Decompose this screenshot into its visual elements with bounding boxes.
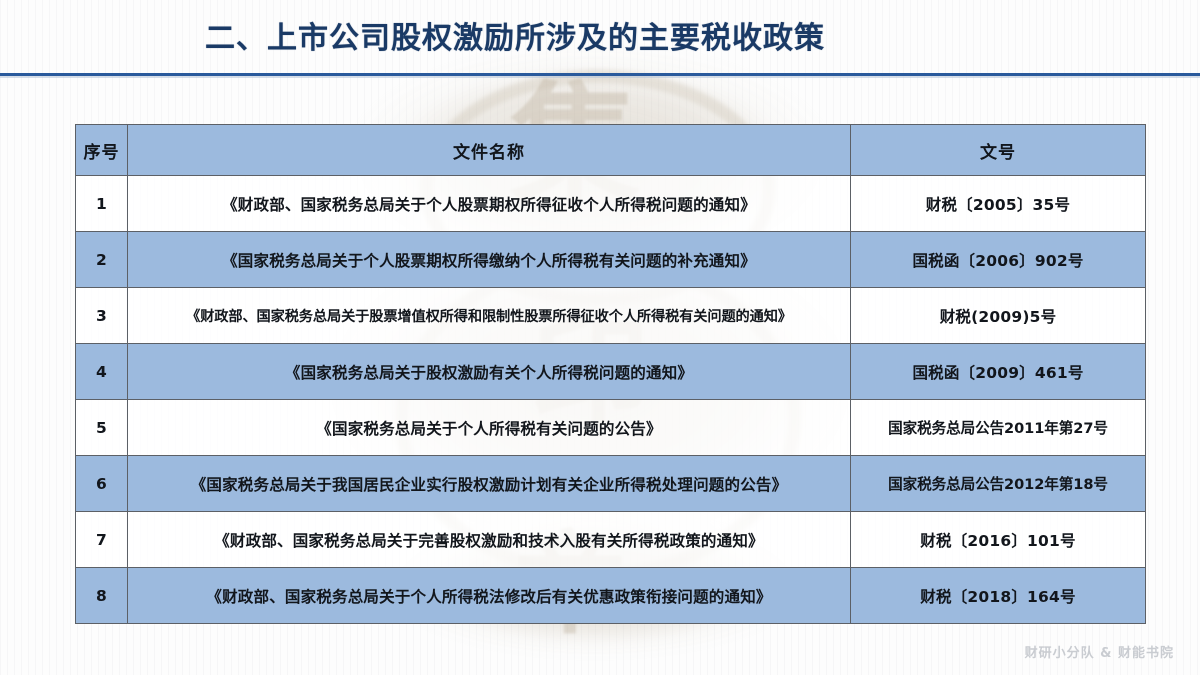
cell-document-number: 财税(2009)5号 [851,288,1146,344]
cell-document-name: 《国家税务总局关于股权激励有关个人所得税问题的通知》 [128,344,851,400]
footer-credit: 财研小分队 & 财能书院 [1025,642,1174,661]
cell-sequence: 8 [76,568,128,624]
table-row: 4 《国家税务总局关于股权激励有关个人所得税问题的通知》 国税函〔2009〕46… [76,344,1146,400]
cell-document-number: 国税函〔2006〕902号 [851,232,1146,288]
column-header-sequence: 序号 [76,125,128,176]
table-row: 7 《财政部、国家税务总局关于完善股权激励和技术入股有关所得税政策的通知》 财税… [76,512,1146,568]
table-header-row: 序号 文件名称 文号 [76,125,1146,176]
cell-sequence: 2 [76,232,128,288]
cell-sequence: 7 [76,512,128,568]
cell-document-number: 财税〔2016〕101号 [851,512,1146,568]
cell-document-number: 财税〔2005〕35号 [851,176,1146,232]
table-row: 3 《财政部、国家税务总局关于股票增值权所得和限制性股票所得征收个人所得税有关问… [76,288,1146,344]
table-row: 5 《国家税务总局关于个人所得税有关问题的公告》 国家税务总局公告2011年第2… [76,400,1146,456]
cell-document-name: 《财政部、国家税务总局关于完善股权激励和技术入股有关所得税政策的通知》 [128,512,851,568]
cell-document-number: 国家税务总局公告2012年第18号 [851,456,1146,512]
cell-document-name: 《财政部、国家税务总局关于个人所得税法修改后有关优惠政策衔接问题的通知》 [128,568,851,624]
cell-sequence: 6 [76,456,128,512]
cell-document-name: 《国家税务总局关于个人所得税有关问题的公告》 [128,400,851,456]
table-row: 8 《财政部、国家税务总局关于个人所得税法修改后有关优惠政策衔接问题的通知》 财… [76,568,1146,624]
table-row: 1 《财政部、国家税务总局关于个人股票期权所得征收个人所得税问题的通知》 财税〔… [76,176,1146,232]
cell-sequence: 1 [76,176,128,232]
cell-document-name: 《国家税务总局关于我国居民企业实行股权激励计划有关企业所得税处理问题的公告》 [128,456,851,512]
slide-canvas: 集 印 章 二、上市公司股权激励所涉及的主要税收政策 序号 文件名称 文号 1 … [0,0,1200,675]
cell-sequence: 4 [76,344,128,400]
cell-sequence: 5 [76,400,128,456]
table-row: 6 《国家税务总局关于我国居民企业实行股权激励计划有关企业所得税处理问题的公告》… [76,456,1146,512]
title-area: 二、上市公司股权激励所涉及的主要税收政策 [0,0,1200,76]
tax-policy-table: 序号 文件名称 文号 1 《财政部、国家税务总局关于个人股票期权所得征收个人所得… [75,124,1146,624]
column-header-document-name: 文件名称 [128,125,851,176]
table-row: 2 《国家税务总局关于个人股票期权所得缴纳个人所得税有关问题的补充通知》 国税函… [76,232,1146,288]
cell-document-name: 《财政部、国家税务总局关于股票增值权所得和限制性股票所得征收个人所得税有关问题的… [128,288,851,344]
cell-document-name: 《国家税务总局关于个人股票期权所得缴纳个人所得税有关问题的补充通知》 [128,232,851,288]
policy-table-container: 序号 文件名称 文号 1 《财政部、国家税务总局关于个人股票期权所得征收个人所得… [75,124,1145,624]
cell-sequence: 3 [76,288,128,344]
title-divider-rule [0,73,1200,76]
cell-document-number: 国家税务总局公告2011年第27号 [851,400,1146,456]
table-header: 序号 文件名称 文号 [76,125,1146,176]
page-title: 二、上市公司股权激励所涉及的主要税收政策 [205,20,825,58]
column-header-document-number: 文号 [851,125,1146,176]
cell-document-number: 国税函〔2009〕461号 [851,344,1146,400]
cell-document-number: 财税〔2018〕164号 [851,568,1146,624]
table-body: 1 《财政部、国家税务总局关于个人股票期权所得征收个人所得税问题的通知》 财税〔… [76,176,1146,624]
cell-document-name: 《财政部、国家税务总局关于个人股票期权所得征收个人所得税问题的通知》 [128,176,851,232]
